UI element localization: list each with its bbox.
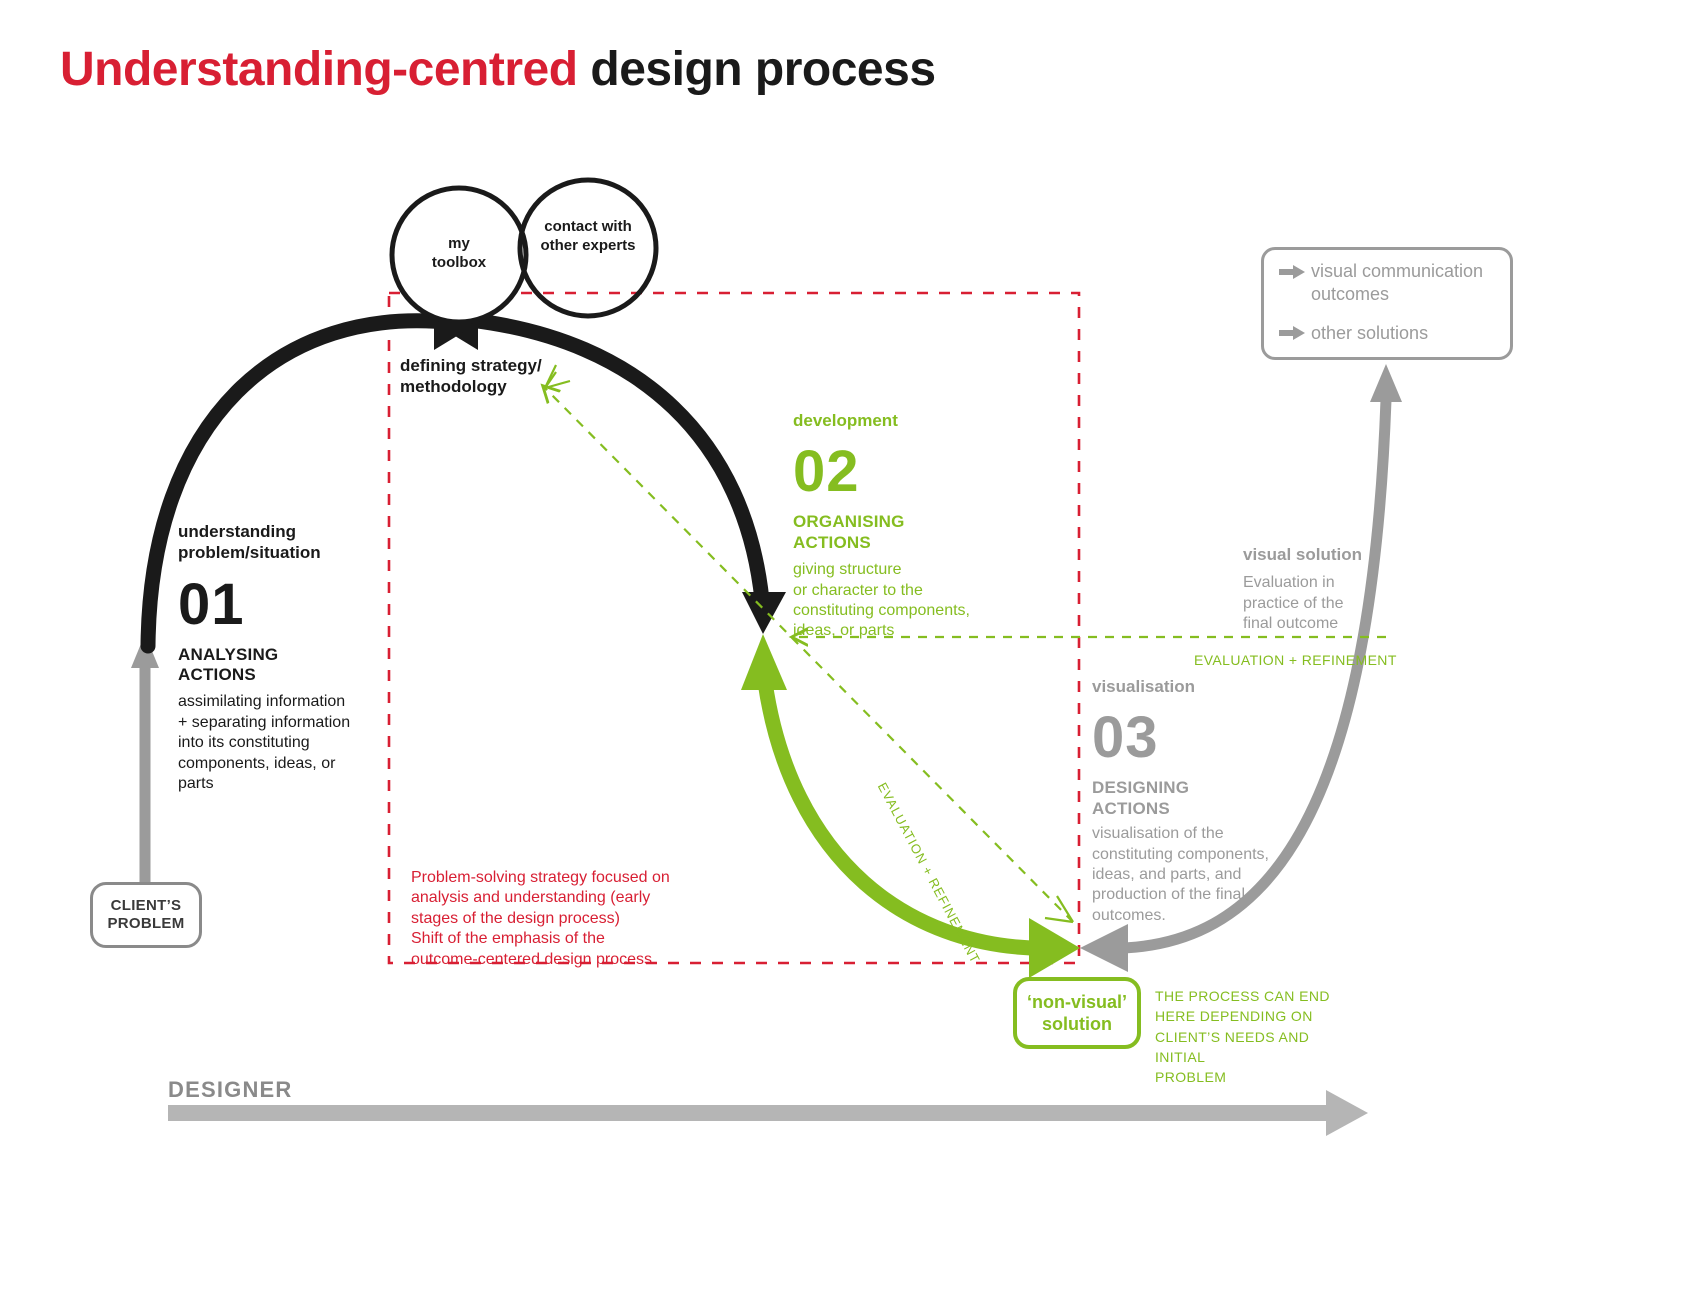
stage-03-number: 03 bbox=[1092, 709, 1297, 767]
stage-01-block: understanding problem/situation 01 ANALY… bbox=[178, 521, 378, 795]
arrow-client-to-stage01 bbox=[131, 634, 159, 882]
stage-02-block: development 02 ORGANISING ACTIONS giving… bbox=[793, 410, 1008, 642]
visual-solution-kicker: visual solution bbox=[1243, 544, 1408, 565]
annotation-red-note: Problem-solving strategy focused on anal… bbox=[411, 868, 691, 970]
node-clients-problem[interactable]: CLIENT’S PROBLEM bbox=[90, 882, 202, 948]
label-defining-strategy: defining strategy/ methodology bbox=[400, 355, 630, 398]
circle-label-my-toolbox: my toolbox bbox=[409, 235, 509, 273]
green-refinement-arc bbox=[741, 634, 1080, 978]
designer-timeline-arrow bbox=[168, 1090, 1368, 1136]
stage-02-number: 02 bbox=[793, 443, 1008, 501]
visual-solution-block: visual solution Evaluation in practice o… bbox=[1243, 544, 1408, 635]
annotation-evaluation-horizontal: EVALUATION + REFINEMENT bbox=[1194, 650, 1397, 670]
node-nonvisual-solution[interactable]: ‘non-visual’ solution bbox=[1013, 977, 1141, 1049]
visual-solution-body: Evaluation in practice of the final outc… bbox=[1243, 573, 1408, 634]
stage-02-kicker: development bbox=[793, 410, 1008, 431]
stage-01-body: assimilating information + separating in… bbox=[178, 692, 378, 794]
stage-01-kicker: understanding problem/situation bbox=[178, 521, 378, 564]
stage-03-caps: DESIGNING ACTIONS bbox=[1092, 778, 1297, 819]
stage-01-number: 01 bbox=[178, 576, 378, 634]
outcomes-item-other-solutions[interactable]: other solutions bbox=[1311, 322, 1511, 345]
stage-03-block: visualisation 03 DESIGNING ACTIONS visua… bbox=[1092, 676, 1297, 926]
stage-03-body: visualisation of the constituting compon… bbox=[1092, 824, 1297, 926]
stage-03-kicker: visualisation bbox=[1092, 676, 1297, 697]
annotation-green-note: THE PROCESS CAN END HERE DEPENDING ON CL… bbox=[1155, 986, 1345, 1087]
stage-01-caps: ANALYSING ACTIONS bbox=[178, 645, 378, 686]
stage-02-caps: ORGANISING ACTIONS bbox=[793, 512, 1008, 553]
stage-02-body: giving structure or character to the con… bbox=[793, 560, 1008, 642]
outcomes-item-visual-communication-label: visual communication outcomes bbox=[1311, 260, 1483, 305]
circle-label-contact-experts: contact with other experts bbox=[524, 218, 652, 256]
outcomes-item-other-solutions-label: other solutions bbox=[1311, 322, 1428, 345]
outcomes-item-visual-communication[interactable]: visual communication outcomes bbox=[1311, 260, 1511, 305]
label-designer: DESIGNER bbox=[168, 1077, 293, 1103]
